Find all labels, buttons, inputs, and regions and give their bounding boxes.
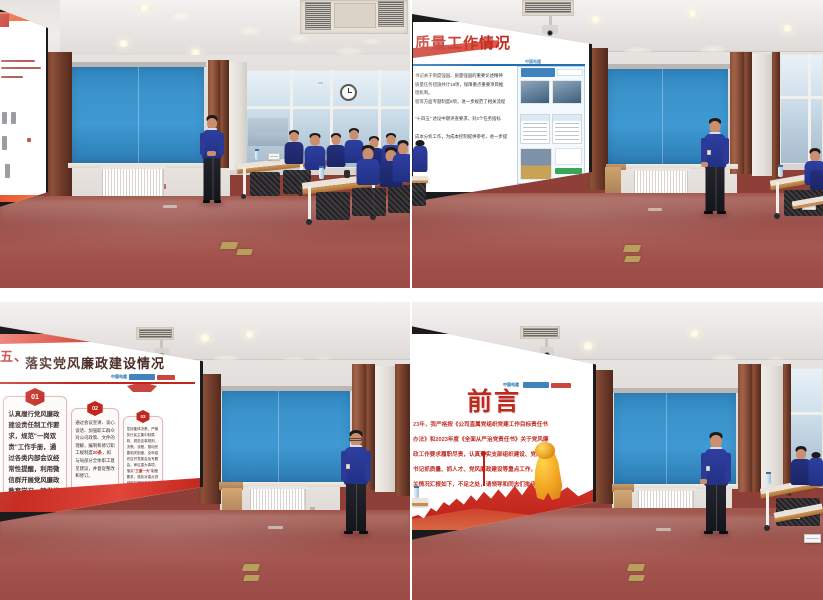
presenter — [198, 115, 226, 203]
ceiling-light-icon — [689, 330, 700, 337]
tv-tower-icon — [483, 452, 485, 486]
ceiling-light-icon — [244, 331, 255, 338]
attendee — [392, 140, 410, 190]
photo-top-right: 质量工作情况 中国电建 书记关于制度强国、质量强国的重要论述精神 质量任务措施共… — [412, 0, 823, 288]
slide-line: 23年，我严格按《公司直属党组织党建工作目标责任书 — [413, 418, 589, 433]
floor-box-cover — [243, 575, 260, 581]
slide-party-discipline: 五、 落实党风廉政建设情况 中国电建 01 认真履行党风廉政建设责任制工作要求，… — [0, 334, 200, 512]
photo-bottom-left: 五、 落实党风廉政建设情况 中国电建 01 认真履行党风廉政建设责任制工作要求，… — [0, 302, 410, 600]
slide-line: 程等方面专题制度8项，进一步规范了相关流程 — [415, 98, 515, 107]
presentation-screen: 质量工作情况 中国电建 书记关于制度强国、质量强国的重要论述精神 质量任务措施共… — [412, 14, 592, 202]
ceiling-light-icon — [687, 10, 698, 17]
floor-box-cover — [236, 249, 253, 255]
slide-embedded-document — [552, 114, 582, 144]
floor-box-cover — [627, 564, 645, 571]
slide-embedded-document — [520, 114, 550, 144]
slide-quality-report: 质量工作情况 中国电建 书记关于制度强国、质量强国的重要论述精神 质量任务措施共… — [413, 22, 589, 192]
floor-box-cover — [220, 242, 238, 249]
photo-top-left — [0, 0, 410, 288]
projector-camera-icon — [542, 25, 558, 34]
card-highlight: 20条 — [93, 450, 102, 455]
floor-box-cover — [623, 245, 641, 252]
presenter — [340, 430, 372, 534]
floor-box-cover — [624, 256, 641, 262]
slide-embedded-photo — [520, 80, 550, 104]
slide-title-prefix: 五、 — [0, 346, 28, 365]
card-body: 坚持集体决策，严格执行民主集中制原则，规范议事规则、决策、流程，推动完善相关制度… — [127, 427, 159, 473]
slide-preface: 中国电建 前言 23年，我严格按《公司直属党组织党建工作目标责任书 办法》和20… — [412, 334, 593, 530]
presentation-screen — [0, 8, 48, 208]
presenter — [700, 432, 732, 534]
card-number: 02 — [86, 401, 104, 416]
card-body: 认真履行党风廉政建设责任制工作要求，规范"一岗双责"工作手册，通过各类内部会议经… — [8, 411, 59, 497]
slide-line: 系。 — [415, 141, 515, 150]
slide-line: 理机制。 — [415, 89, 515, 98]
card-number: 01 — [24, 388, 46, 406]
slide-line: 政工作要求履职尽责，认真落实支部组织建设、党的引领、 — [413, 448, 589, 463]
tv-tower-icon — [481, 451, 486, 456]
nameplate — [268, 153, 280, 160]
slide-logo: 中国电建 — [525, 59, 541, 65]
nameplate — [804, 534, 821, 543]
slide-title: 落实党风廉政建设情况 — [25, 353, 165, 372]
photo-collage: 质量工作情况 中国电建 书记关于制度强国、质量强国的重要论述精神 质量任务措施共… — [0, 0, 823, 600]
presenter — [700, 118, 730, 214]
conference-table — [412, 176, 428, 183]
slide-embedded-photo — [520, 148, 552, 180]
card-number: 03 — [136, 410, 151, 423]
slide-line: 成本分析工作，为成本控制提供参考，进一步提 — [415, 133, 515, 142]
card-highlight: "三重一大" — [134, 469, 151, 473]
slide-line: 质量任务措施共计18项，保障重点重要项目推 — [415, 81, 515, 90]
attendee — [810, 170, 823, 194]
lion-statue-graphic — [535, 442, 555, 459]
floor-box-cover — [628, 575, 645, 581]
ceiling-light-icon — [118, 40, 129, 47]
slide-line: "十四五" 述设中期评查要求，对4个任务指标 — [415, 115, 515, 124]
attendee — [808, 452, 823, 496]
window-blind — [222, 390, 350, 482]
floor-box-cover — [242, 564, 260, 571]
slide-line: 办法》和2023年度《全面从严治党责任书》关于党风廉 — [413, 433, 589, 448]
slide-body: 23年，我严格按《公司直属党组织党建工作目标责任书 办法》和2023年度《全面从… — [413, 418, 589, 493]
conference-table — [412, 498, 428, 506]
slide-title: 前言 — [467, 382, 521, 418]
slide-line: 书记抓质量、抓人才、党风廉政建设等重点工作，现将有 — [413, 463, 589, 478]
ceiling-light-icon — [199, 334, 211, 342]
ceiling-light-icon — [138, 4, 151, 12]
slide-title: 质量工作情况 — [415, 32, 511, 53]
slide-logo: 中国电建 — [111, 374, 127, 380]
card: 01 认真履行党风廉政建设责任制工作要求，规范"一岗双责"工作手册，通过各类内部… — [3, 396, 67, 502]
card-text: 认真履行党风廉政建设责任制工作要求，规范"一岗双责"工作手册，通过各类内部会议经… — [8, 409, 61, 497]
ceiling-light-icon — [782, 25, 793, 32]
photo-bottom-right: 中国电建 前言 23年，我严格按《公司直属党组织党建工作目标责任书 办法》和20… — [412, 302, 823, 600]
ceiling-light-icon — [590, 16, 601, 23]
ceiling-light-icon — [582, 342, 594, 350]
attendee — [283, 130, 305, 176]
slide-line: 书记关于制度强国、质量强国的重要论述精神 — [415, 72, 515, 81]
wall-clock-icon — [340, 84, 357, 101]
slide-embedded-photo — [552, 80, 582, 104]
